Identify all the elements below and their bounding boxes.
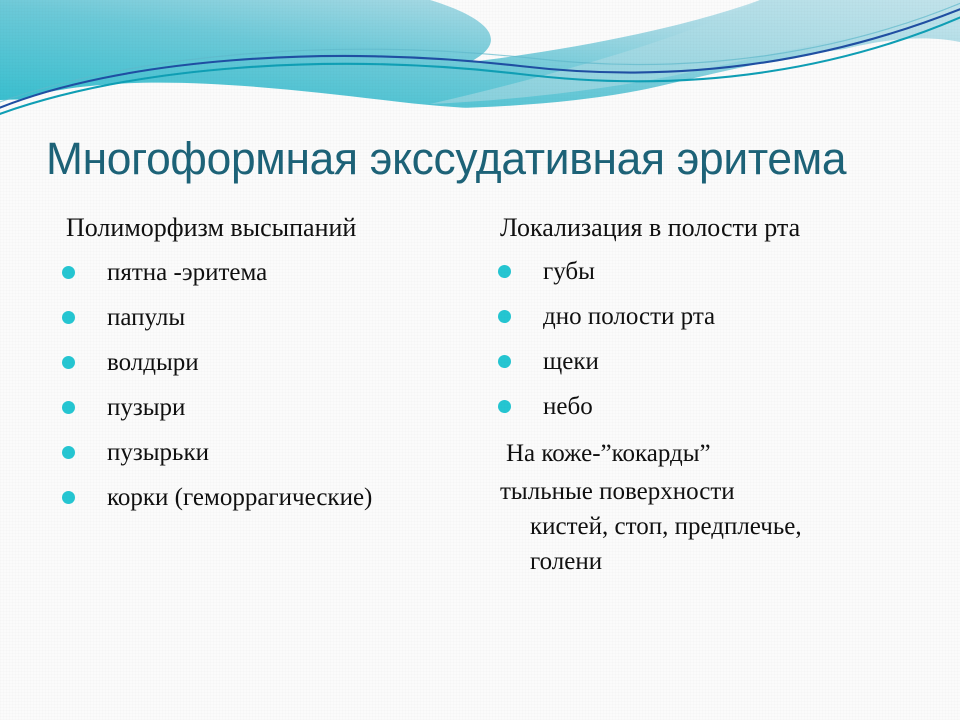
slide-body: Полиморфизм высыпаний пятна -эритема пап… xyxy=(0,212,960,612)
list-item: губы xyxy=(498,257,948,302)
presentation-slide: Многоформная экссудативная эритема Полим… xyxy=(0,0,960,720)
list-item-label: щеки xyxy=(543,348,599,375)
list-item: волдыри xyxy=(62,348,484,393)
list-item-label: пузырьки xyxy=(107,439,209,466)
list-item: пузыри xyxy=(62,393,484,438)
list-item: дно полости рта xyxy=(498,302,948,347)
bullet-dot-icon xyxy=(498,265,511,278)
list-item: небо xyxy=(498,392,948,437)
list-item-label: пузыри xyxy=(107,394,185,421)
list-item-label: дно полости рта xyxy=(543,303,715,330)
skin-locations-line-3: голени xyxy=(500,544,930,579)
left-column-heading: Полиморфизм высыпаний xyxy=(44,212,484,244)
bullet-dot-icon xyxy=(62,491,75,504)
bullet-dot-icon xyxy=(62,311,75,324)
bullet-dot-icon xyxy=(498,400,511,413)
left-bullet-list: пятна -эритема папулы волдыри пузыри пуз… xyxy=(44,258,484,528)
list-item: пузырьки xyxy=(62,438,484,483)
right-column-heading: Локализация в полости рта xyxy=(498,212,948,244)
skin-locations-paragraph: тыльные поверхности кистей, стоп, предпл… xyxy=(498,474,930,579)
bullet-dot-icon xyxy=(498,355,511,368)
list-item: пятна -эритема xyxy=(62,258,484,303)
list-item-label: корки (геморрагические) xyxy=(107,484,372,511)
bullet-dot-icon xyxy=(62,266,75,279)
list-item: папулы xyxy=(62,303,484,348)
list-item-label: папулы xyxy=(107,304,185,331)
list-item-label: волдыри xyxy=(107,349,199,376)
bullet-dot-icon xyxy=(498,310,511,323)
list-item-label: небо xyxy=(543,393,593,420)
bullet-dot-icon xyxy=(62,401,75,414)
blue-wave-banner-icon xyxy=(0,0,960,118)
right-bullet-list: губы дно полости рта щеки небо xyxy=(498,257,948,437)
content-column-left: Полиморфизм высыпаний пятна -эритема пап… xyxy=(44,212,484,528)
list-item-label: губы xyxy=(543,258,595,285)
list-item: корки (геморрагические) xyxy=(62,483,484,528)
content-column-right: Локализация в полости рта губы дно полос… xyxy=(498,212,948,579)
list-item-label: пятна -эритема xyxy=(107,259,267,286)
skin-note-line: На коже-”кокарды” xyxy=(498,439,948,469)
skin-locations-line-2: кистей, стоп, предплечье, xyxy=(500,509,930,544)
bullet-dot-icon xyxy=(62,356,75,369)
list-item: щеки xyxy=(498,347,948,392)
bullet-dot-icon xyxy=(62,446,75,459)
skin-locations-line-1: тыльные поверхности xyxy=(500,478,735,505)
slide-title: Многоформная экссудативная эритема xyxy=(46,133,913,185)
